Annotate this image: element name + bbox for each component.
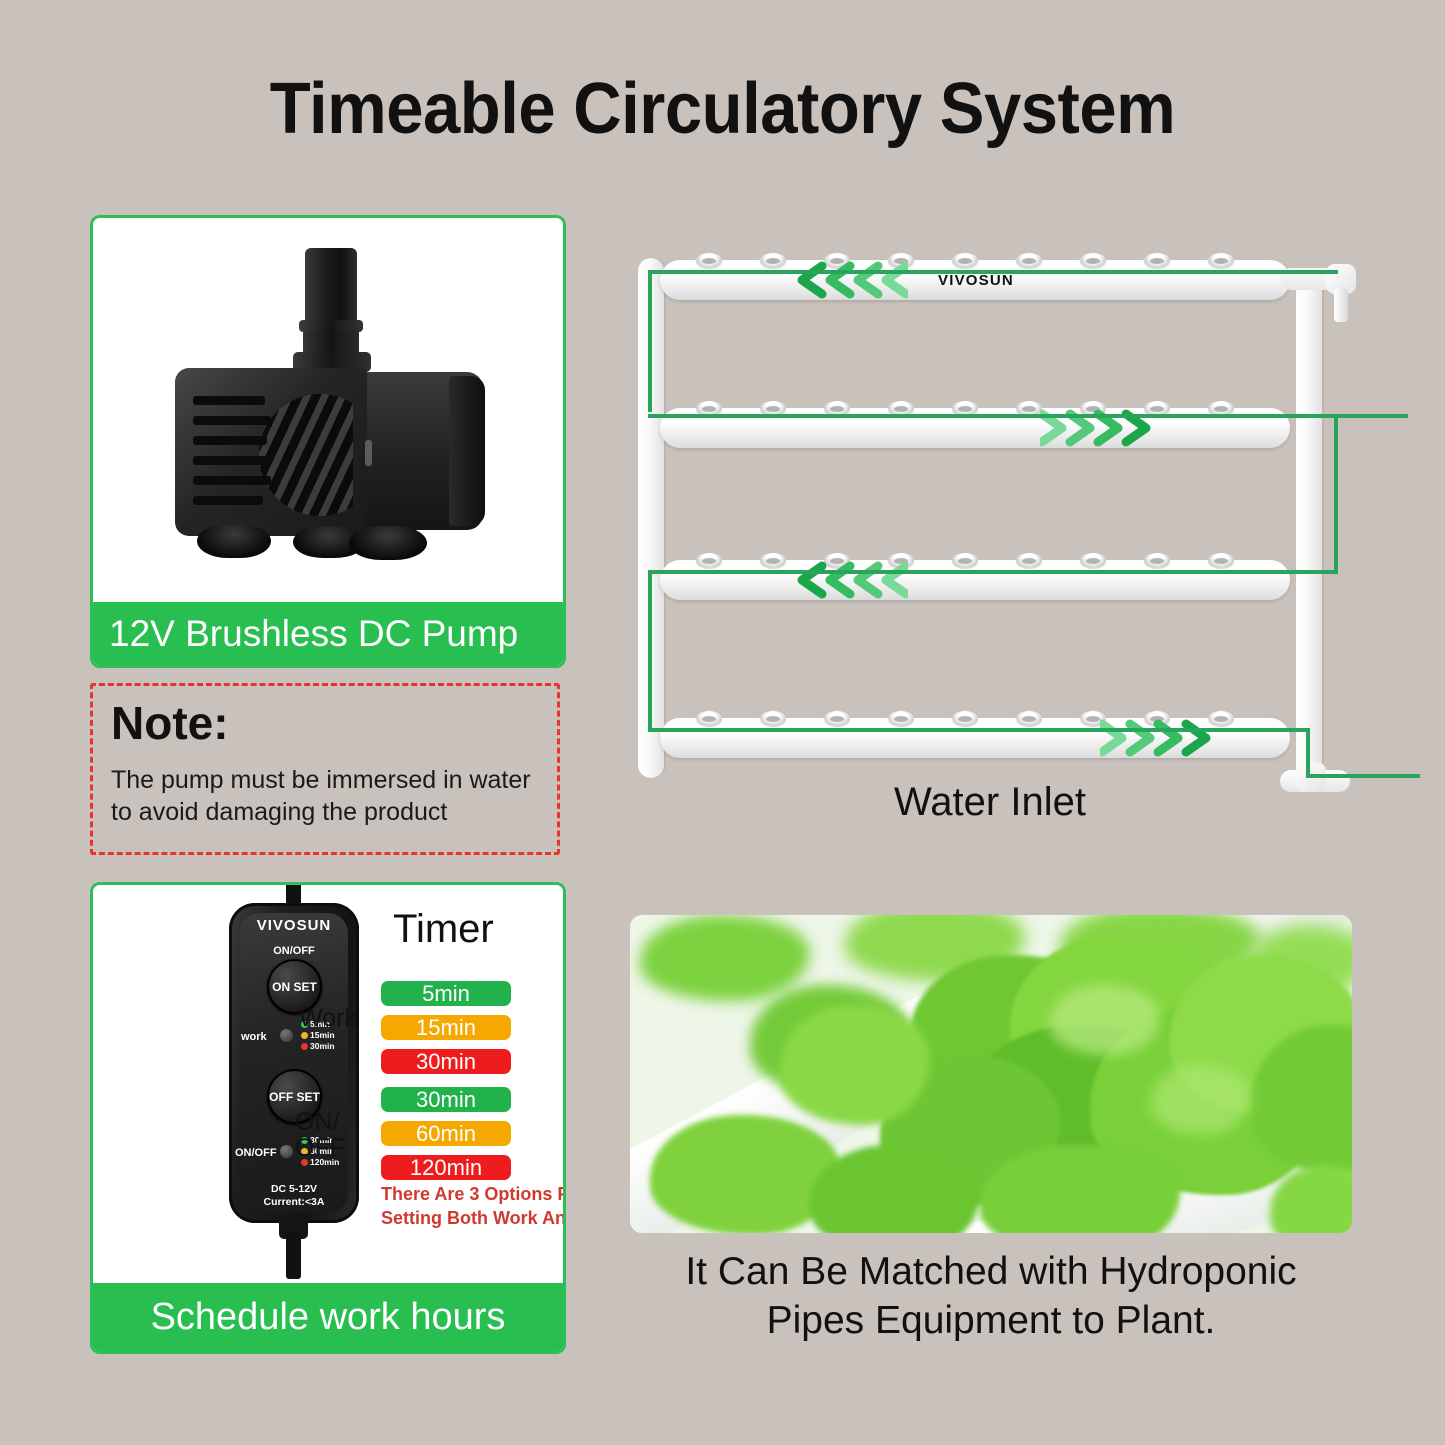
water-inlet-label: Water Inlet — [620, 780, 1360, 825]
work-group-label: Work — [299, 1005, 357, 1031]
water-pump-icon — [153, 248, 503, 578]
flow-path-line — [1306, 774, 1420, 778]
timer-footnote: There Are 3 Options For Setting Both Wor… — [381, 1182, 563, 1231]
right-riser-pipe — [1296, 270, 1322, 780]
onoff-group-label-line2: OFF — [295, 1135, 345, 1161]
timer-controller: VIVOSUN ON/OFF ON SET work 5min 15min 30… — [229, 903, 359, 1223]
onoff-option-pill[interactable]: 60min — [381, 1121, 511, 1146]
controller-top-label: ON/OFF — [229, 945, 359, 957]
onoff-group-label-line1: ON/ — [295, 1109, 345, 1135]
page-title: Timeable Circulatory System — [51, 68, 1395, 150]
infographic-page: Timeable Circulatory System — [0, 0, 1445, 1445]
controller-spec-voltage: DC 5-12V — [229, 1183, 359, 1196]
timer-legend-title: Timer — [393, 907, 494, 952]
note-box: Note: The pump must be immersed in water… — [90, 683, 560, 855]
pipe-row — [660, 560, 1290, 600]
flow-path-line — [1404, 414, 1408, 418]
onoff-option-pill[interactable]: 120min — [381, 1155, 511, 1180]
flow-path-line — [648, 414, 1408, 418]
pump-photo — [93, 218, 563, 600]
note-heading: Note: — [111, 696, 229, 750]
work-option-pill[interactable]: 30min — [381, 1049, 511, 1074]
flow-arrow-left — [788, 560, 908, 600]
timer-footnote-line2: Setting Both Work And Stop. — [381, 1206, 563, 1230]
flow-path-line — [648, 570, 652, 728]
flow-arrow-right — [1100, 718, 1220, 758]
photo-caption-line1: It Can Be Matched with Hydroponic — [620, 1248, 1362, 1297]
work-option-pill[interactable]: 15min — [381, 1015, 511, 1040]
lettuce-photo — [630, 915, 1352, 1233]
flow-path-line — [1334, 416, 1338, 574]
onoff-option-pill[interactable]: 30min — [381, 1087, 511, 1112]
onoff-indicator-knob — [280, 1145, 293, 1158]
timer-card-label: Schedule work hours — [93, 1283, 563, 1351]
controller-brand-logo: VIVOSUN — [229, 917, 359, 934]
note-body: The pump must be immersed in water to av… — [111, 764, 551, 828]
hydroponic-pipe-diagram: VIVOSUN — [620, 230, 1420, 850]
work-indicator-knob — [280, 1029, 293, 1042]
timer-card: VIVOSUN ON/OFF ON SET work 5min 15min 30… — [90, 882, 566, 1354]
photo-caption-line2: Pipes Equipment to Plant. — [620, 1297, 1362, 1346]
work-option-pill[interactable]: 5min — [381, 981, 511, 1006]
flow-arrow-left — [788, 260, 908, 300]
controller-spec-current: Current:<3A — [229, 1196, 359, 1209]
timer-illustration: VIVOSUN ON/OFF ON SET work 5min 15min 30… — [93, 885, 563, 1283]
pump-card-label: 12V Brushless DC Pump — [93, 602, 563, 665]
flow-path-line — [648, 270, 1338, 274]
pump-card: 12V Brushless DC Pump — [90, 215, 566, 668]
pipe-brand-logo: VIVOSUN — [938, 272, 1014, 289]
onoff-group-label: ON/ OFF — [295, 1109, 345, 1162]
controller-work-label: work — [241, 1031, 267, 1043]
controller-spec: DC 5-12V Current:<3A — [229, 1183, 359, 1209]
controller-onoff-label: ON/OFF — [235, 1147, 277, 1159]
timer-footnote-line1: There Are 3 Options For — [381, 1182, 563, 1206]
flow-path-line — [648, 728, 1310, 732]
flow-path-line — [648, 570, 1338, 574]
flow-path-line — [1306, 728, 1310, 778]
flow-path-line — [648, 270, 652, 412]
photo-caption: It Can Be Matched with Hydroponic Pipes … — [620, 1248, 1362, 1346]
hose-barb-fitting — [1334, 288, 1348, 322]
work-led-label: 30min — [310, 1041, 335, 1051]
cable-bottom — [286, 1233, 301, 1279]
